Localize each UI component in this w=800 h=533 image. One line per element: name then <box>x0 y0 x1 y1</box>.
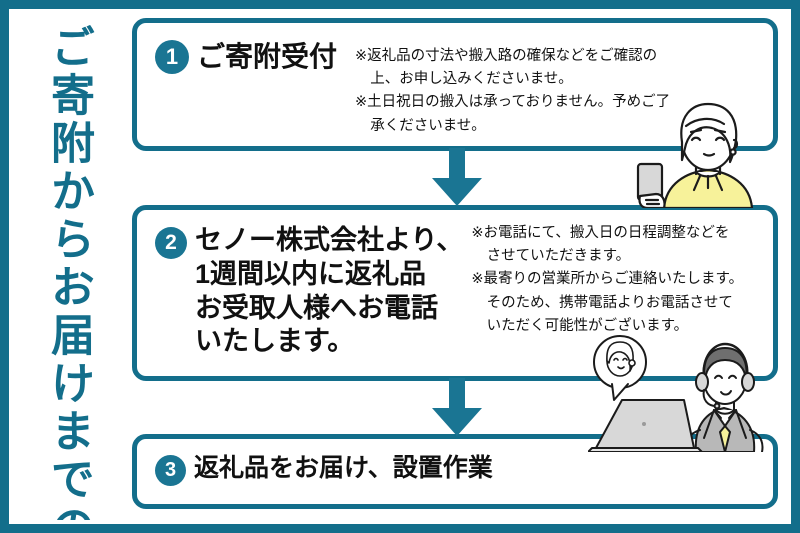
step-1-number-badge: 1 <box>155 40 189 74</box>
step-box-2: 2 セノー株式会社より、 1週間以内に返礼品 お受取人様へお電話 いたします。 … <box>132 205 778 381</box>
step-2-note-1: ※お電話にて、搬入日の日程調整などを させていただきます。 <box>471 222 759 268</box>
step-1-title: ご寄附受付 <box>197 40 337 74</box>
step-box-1: 1 ご寄附受付 ※返礼品の寸法や搬入路の確保などをご確認の 上、お申し込みくださ… <box>132 18 778 151</box>
arrow-step1-to-step2-icon <box>430 148 484 208</box>
vertical-title-panel: ご寄附からお届けまでのご案内 <box>14 14 122 519</box>
step-2-number-badge: 2 <box>155 227 187 259</box>
step-1-heading: 1 ご寄附受付 <box>137 23 337 74</box>
infographic-page: ご寄附からお届けまでのご案内 1 ご寄附受付 ※返礼品の寸法や搬入路の確保などを… <box>0 0 800 533</box>
step-1-note-1: ※返礼品の寸法や搬入路の確保などをご確認の 上、お申し込みくださいませ。 <box>355 45 757 91</box>
step-box-3: 3 返礼品をお届け、設置作業 <box>132 434 778 509</box>
step-2-notes: ※お電話にて、搬入日の日程調整などを させていただきます。 ※最寄りの営業所から… <box>463 210 773 338</box>
step-3-heading: 3 返礼品をお届け、設置作業 <box>137 439 493 486</box>
page-title: ご寄附からお届けまでのご案内 <box>46 14 90 533</box>
step-3-number-badge: 3 <box>155 455 186 486</box>
step-2-heading: 2 セノー株式会社より、 1週間以内に返礼品 お受取人様へお電話 いたします。 <box>137 210 463 359</box>
step-3-content: 3 返礼品をお届け、設置作業 <box>137 439 773 504</box>
step-2-note-2: ※最寄りの営業所からご連絡いたします。 そのため、携帯電話よりお電話させて いた… <box>471 268 759 338</box>
step-1-content: 1 ご寄附受付 ※返礼品の寸法や搬入路の確保などをご確認の 上、お申し込みくださ… <box>137 23 773 146</box>
step-1-note-2: ※土日祝日の搬入は承っておりません。予めご了 承くださいませ。 <box>355 91 757 137</box>
step-2-content: 2 セノー株式会社より、 1週間以内に返礼品 お受取人様へお電話 いたします。 … <box>137 210 773 376</box>
step-1-notes: ※返礼品の寸法や搬入路の確保などをご確認の 上、お申し込みくださいませ。 ※土日… <box>337 23 773 138</box>
arrow-step2-to-step3-icon <box>430 378 484 438</box>
step-3-title: 返礼品をお届け、設置作業 <box>194 453 493 483</box>
step-2-title: セノー株式会社より、 1週間以内に返礼品 お受取人様へお電話 いたします。 <box>195 224 463 359</box>
